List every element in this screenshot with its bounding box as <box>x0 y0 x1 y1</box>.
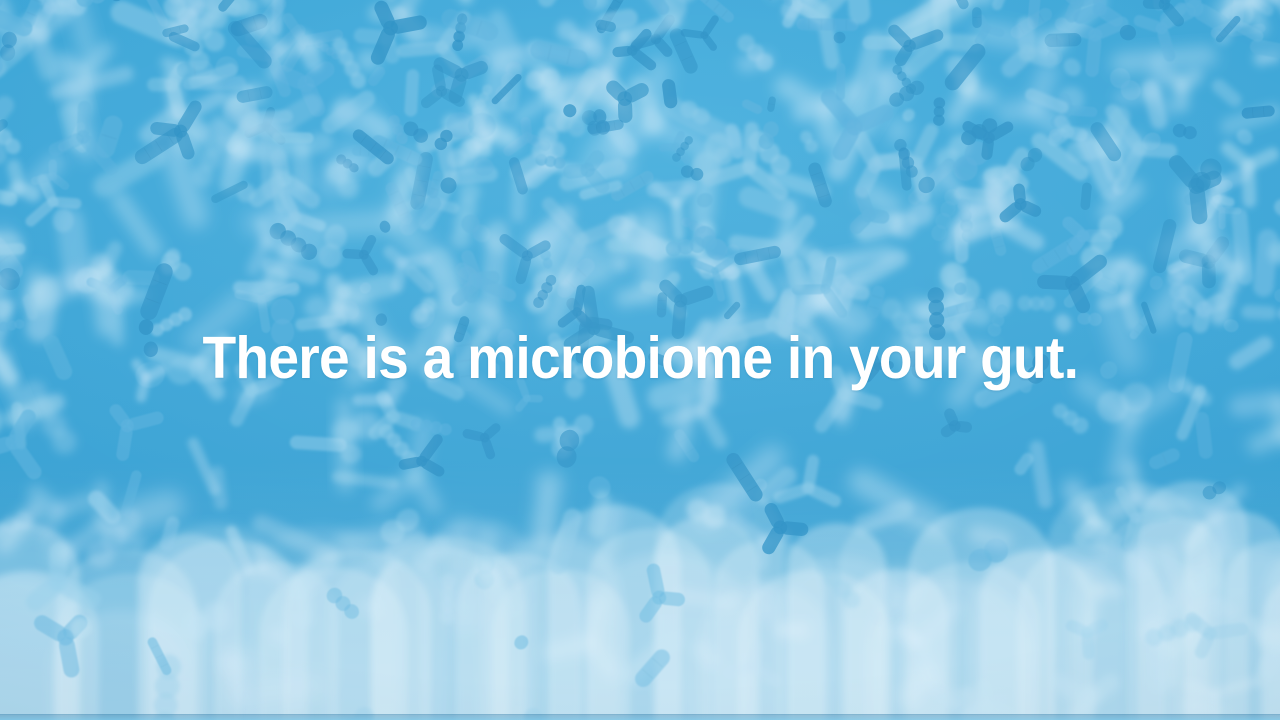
vignette-overlay <box>0 0 1280 720</box>
slide-canvas: There is a microbiome in your gut. <box>0 0 1280 720</box>
bottom-edge-line <box>0 714 1280 720</box>
